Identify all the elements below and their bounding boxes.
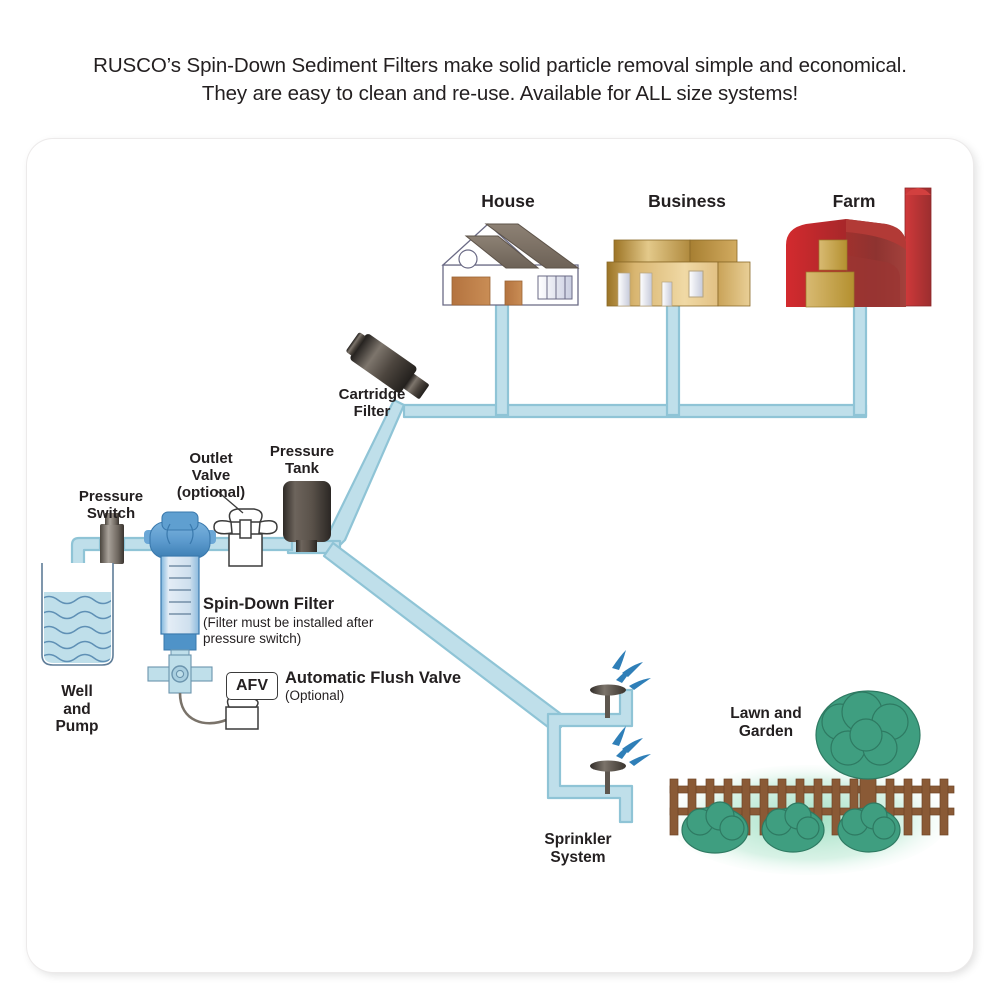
- label-outlet-valve: Outlet Valve (optional): [177, 450, 245, 501]
- label-lawn-and-garden: Lawn and Garden: [730, 705, 801, 740]
- pipe-drop-business: [667, 303, 679, 415]
- pipe-drop-farm: [854, 303, 866, 415]
- afv-badge-text: AFV: [236, 677, 268, 695]
- pipe-upper-diagonal: [322, 400, 404, 552]
- business-illustration: [607, 240, 750, 306]
- label-sprinkler-system: Sprinkler System: [544, 831, 611, 866]
- well-water: [40, 592, 112, 664]
- label-business: Business: [648, 192, 726, 212]
- afv-badge: AFV: [226, 672, 278, 700]
- label-pressure-switch: Pressure Switch: [79, 488, 143, 522]
- label-automatic-flush-valve-note: (Optional): [285, 688, 344, 704]
- shrubs: [682, 802, 900, 853]
- spray-droplets-upper: [612, 650, 651, 690]
- label-spin-down-filter: Spin-Down Filter: [203, 595, 334, 614]
- well-and-pump-illustration: [40, 563, 113, 665]
- label-spin-down-note-1: (Filter must be installed after: [203, 615, 373, 631]
- label-automatic-flush-valve: Automatic Flush Valve: [285, 669, 461, 688]
- label-spin-down-note-2: pressure switch): [203, 631, 301, 647]
- flush-hose: [180, 693, 226, 723]
- label-farm: Farm: [833, 192, 876, 212]
- pipe-building-header: [404, 405, 866, 417]
- label-pressure-tank: Pressure Tank: [270, 443, 334, 477]
- house-illustration: [443, 224, 578, 305]
- label-well-and-pump: Well and Pump: [55, 683, 98, 736]
- tree-canopy: [816, 691, 920, 779]
- system-diagram: [0, 0, 1000, 1000]
- pressure-tank-illustration: [283, 481, 331, 552]
- label-house: House: [481, 192, 534, 212]
- pipe-drop-house: [496, 303, 508, 415]
- pipe-lower-diagonal: [324, 543, 561, 727]
- lawn-and-garden-illustration: [668, 691, 954, 875]
- label-cartridge-filter: Cartridge Filter: [339, 386, 406, 420]
- spray-droplets-lower: [612, 726, 651, 766]
- poster-root: RUSCO’s Spin-Down Sediment Filters make …: [0, 0, 1000, 1000]
